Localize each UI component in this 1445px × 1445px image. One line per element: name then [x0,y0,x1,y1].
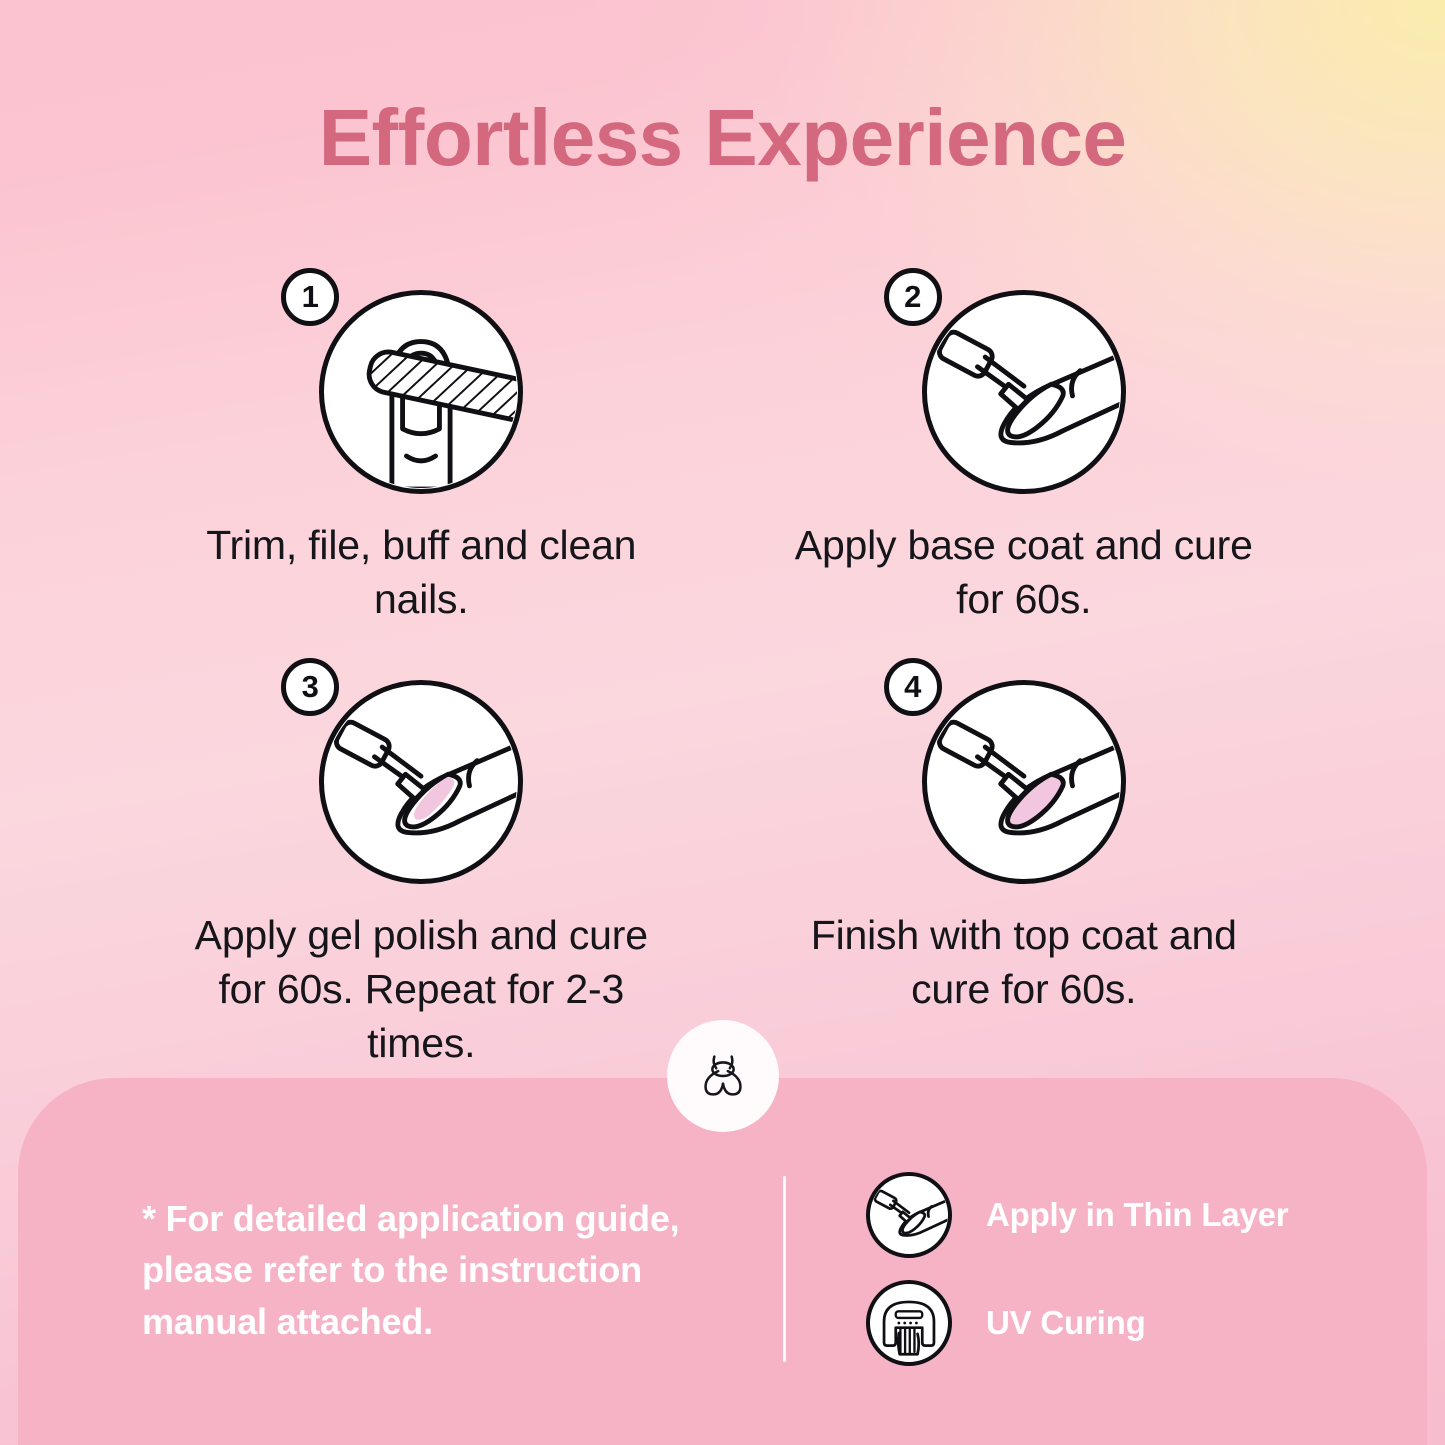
step-caption: Finish with top coat and cure for 60s. [789,908,1259,1016]
thin-layer-brush-icon [866,1172,952,1258]
step-1: 1 [120,268,723,626]
top-coat-brush-icon [922,680,1126,884]
step-number-badge: 2 [884,268,942,326]
feature-uv-curing: UV Curing [866,1280,1288,1366]
step-number-badge: 3 [281,658,339,716]
step-4: 4 [723,658,1326,1070]
feature-label: UV Curing [986,1304,1146,1342]
feature-thin-layer: Apply in Thin Layer [866,1172,1288,1258]
uv-lamp-icon [866,1280,952,1366]
step-1-icon-wrap: 1 [271,268,571,498]
step-caption: Apply base coat and cure for 60s. [789,518,1259,626]
step-number-badge: 4 [884,658,942,716]
step-3: 3 [120,658,723,1070]
steps-grid: 1 [120,268,1325,1071]
step-caption: Trim, file, buff and clean nails. [186,518,656,626]
step-number-badge: 1 [281,268,339,326]
page-title: Effortless Experience [0,92,1445,184]
feature-list: Apply in Thin Layer [866,1172,1288,1366]
step-2-icon-wrap: 2 [874,268,1174,498]
gel-polish-brush-icon [319,680,523,884]
base-coat-brush-icon [922,290,1126,494]
step-caption: Apply gel polish and cure for 60s. Repea… [186,908,656,1070]
step-4-icon-wrap: 4 [874,658,1174,888]
step-3-icon-wrap: 3 [271,658,571,888]
step-2: 2 [723,268,1326,626]
footnote-text: * For detailed application guide, please… [142,1193,742,1347]
feature-label: Apply in Thin Layer [986,1196,1288,1234]
footer-divider [783,1176,786,1362]
nail-file-icon [319,290,523,494]
infographic-page: Effortless Experience 1 [0,0,1445,1445]
bee-logo-icon [667,1020,779,1132]
